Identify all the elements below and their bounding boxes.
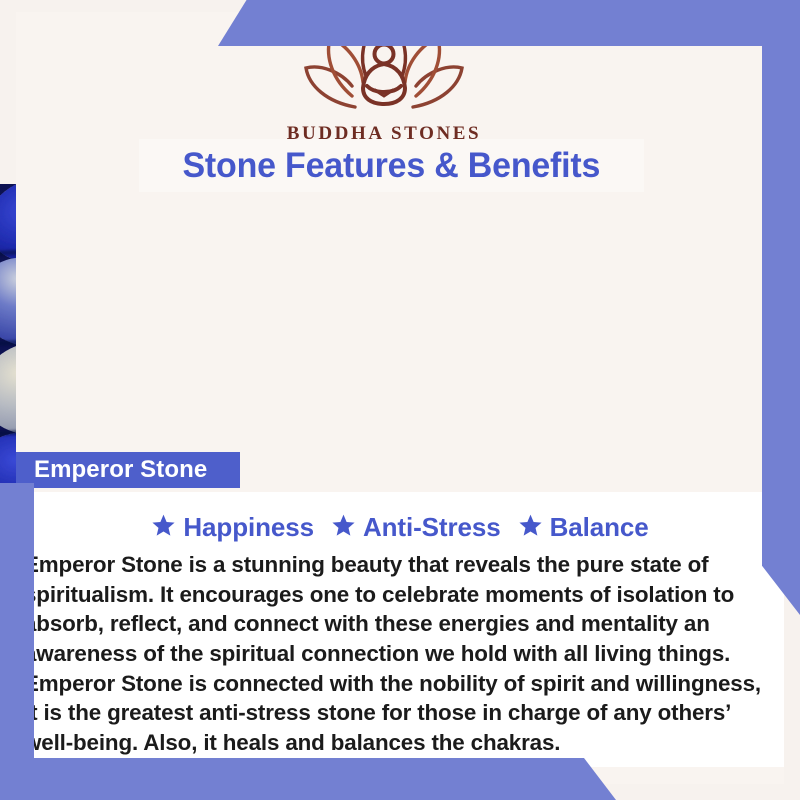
frame-top-border <box>218 0 800 46</box>
description-paragraph-1: Emperor Stone is a stunning beauty that … <box>24 550 768 669</box>
benefit-label: Anti-Stress <box>363 512 501 543</box>
stone-name-label: Emperor Stone <box>16 456 207 484</box>
benefit-item-balance: Balance <box>518 512 649 543</box>
benefit-item-anti-stress: Anti-Stress <box>331 512 501 543</box>
page-title-band: Stone Features & Benefits <box>139 139 644 192</box>
description-panel: Happiness Anti-Stress Balance Emperor St… <box>16 492 784 767</box>
frame-right-border <box>762 0 800 615</box>
benefit-label: Happiness <box>183 512 314 543</box>
star-icon <box>151 513 176 542</box>
star-icon <box>518 513 543 542</box>
description-paragraph-2: Emperor Stone is connected with the nobi… <box>24 669 768 758</box>
benefit-item-happiness: Happiness <box>151 512 314 543</box>
poster: BUDDHA STONES <box>0 0 800 800</box>
benefits-row: Happiness Anti-Stress Balance <box>16 492 784 543</box>
page-title: Stone Features & Benefits <box>183 146 601 186</box>
star-icon <box>331 513 356 542</box>
stone-name-tag: Emperor Stone <box>16 452 240 488</box>
frame-left-border <box>0 483 34 800</box>
benefit-label: Balance <box>550 512 649 543</box>
description-text: Emperor Stone is a stunning beauty that … <box>16 543 784 758</box>
